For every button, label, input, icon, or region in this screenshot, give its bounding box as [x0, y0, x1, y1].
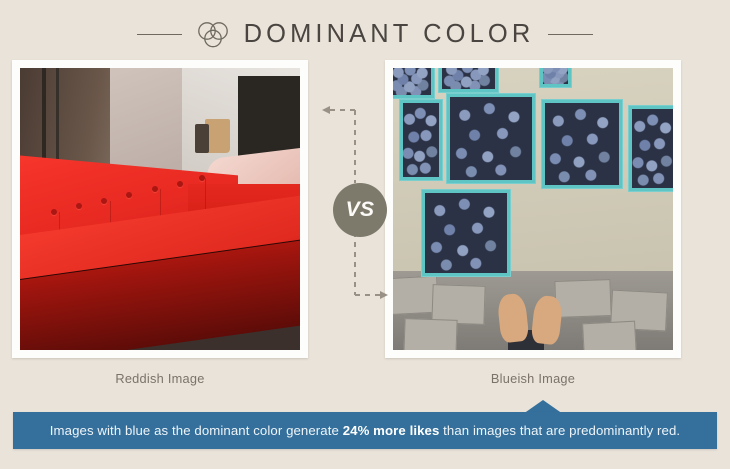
- header: DOMINANT COLOR: [0, 14, 730, 54]
- photo-paver-stone: [555, 279, 612, 318]
- photo-sofa-button: [101, 198, 107, 204]
- photo-sofa-button: [177, 181, 183, 187]
- page-title: DOMINANT COLOR: [244, 20, 535, 49]
- caption-reddish-image: Reddish Image: [12, 371, 308, 386]
- statistic-banner: Images with blue as the dominant color g…: [13, 412, 717, 449]
- arrow-head-left: [322, 106, 330, 114]
- berry-basket: [438, 68, 500, 93]
- vs-badge: VS: [333, 183, 387, 237]
- reddish-image-card[interactable]: [12, 60, 308, 358]
- photo-jar-small: [195, 124, 209, 152]
- berry-basket: [421, 189, 511, 276]
- header-rule-left: [137, 34, 182, 35]
- photo-sofa-button: [51, 209, 57, 215]
- infographic-canvas: DOMINANT COLOR: [0, 0, 730, 469]
- venn-three-circles-icon: [196, 20, 230, 48]
- berry-basket: [539, 68, 573, 88]
- blueish-image-card[interactable]: double tap!: [385, 60, 681, 358]
- berry-basket: [628, 105, 673, 192]
- photo-paver-stone: [582, 320, 637, 350]
- statistic-highlight: 24% more likes: [343, 423, 440, 438]
- statistic-banner-text: Images with blue as the dominant color g…: [50, 423, 680, 438]
- reddish-photo: [20, 68, 300, 350]
- header-rule-right: [548, 34, 593, 35]
- caption-blueish-image: Blueish Image: [385, 371, 681, 386]
- berry-basket: [541, 99, 622, 189]
- berry-basket: [399, 99, 444, 181]
- vs-label: VS: [346, 198, 375, 222]
- blueish-photo: [393, 68, 673, 350]
- photo-paver-stone: [404, 318, 458, 350]
- berry-basket: [446, 93, 536, 183]
- arrow-head-right: [380, 291, 388, 299]
